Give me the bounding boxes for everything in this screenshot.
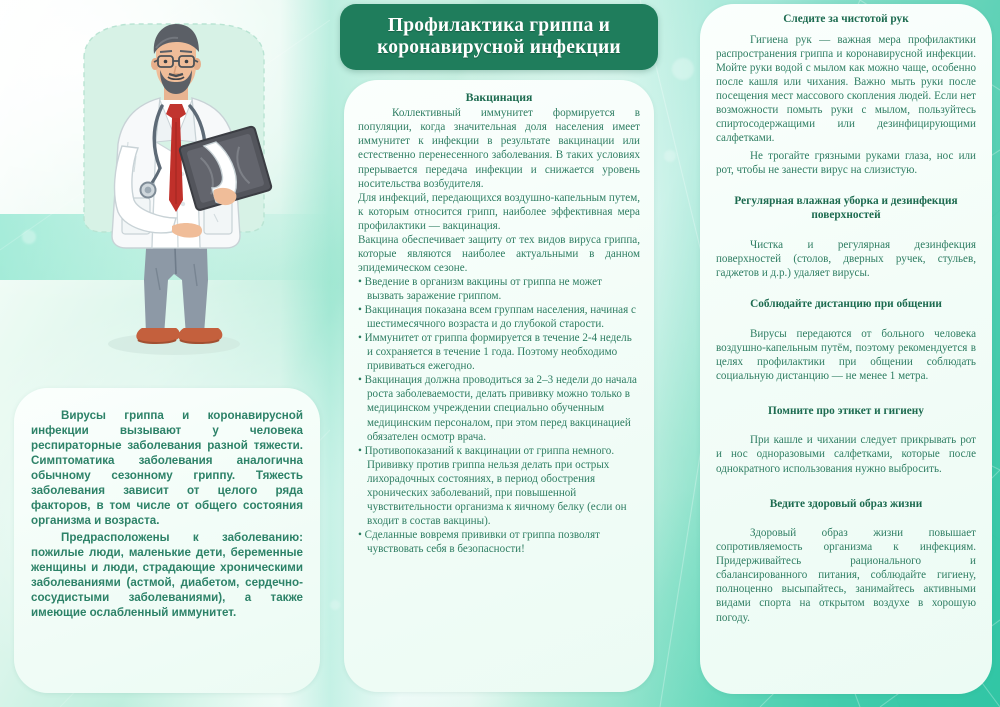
section-paragraph: Чистка и регулярная дезинфекция поверхно… bbox=[716, 238, 976, 280]
doctor-with-xray-icon bbox=[56, 22, 292, 362]
heading-spacer bbox=[716, 517, 976, 526]
list-item: Противопоказаний к вакцинации от гриппа … bbox=[358, 444, 640, 528]
heading-spacer bbox=[716, 424, 976, 433]
section-heading: Ведите здоровый образ жизни bbox=[716, 498, 976, 512]
vaccination-heading: Вакцинация bbox=[358, 90, 640, 104]
list-item: Вакцинация должна проводиться за 2–3 нед… bbox=[358, 373, 640, 443]
vaccination-paragraph-2: Для инфекций, передающихся воздушно-капе… bbox=[358, 191, 640, 233]
section-healthy-lifestyle: Ведите здоровый образ жизни Здоровый обр… bbox=[716, 498, 976, 625]
list-item: Иммунитет от гриппа формируется в течени… bbox=[358, 331, 640, 373]
list-item: Вакцинация показана всем группам населен… bbox=[358, 303, 640, 331]
title-line-1: Профилактика гриппа и bbox=[377, 15, 621, 37]
section-spacer bbox=[716, 392, 976, 405]
list-item: Сделанные вовремя прививки от гриппа поз… bbox=[358, 528, 640, 556]
left-info-card: Вирусы гриппа и коронавирусной инфекции … bbox=[14, 388, 320, 693]
section-hand-hygiene: Следите за чистотой рук Гигиена рук — ва… bbox=[716, 13, 976, 177]
page-title: Профилактика гриппа и коронавирусной инф… bbox=[377, 15, 621, 59]
section-paragraph: При кашле и чихании следует прикрывать р… bbox=[716, 433, 976, 475]
prevention-tips-card: Следите за чистотой рук Гигиена рук — ва… bbox=[700, 4, 992, 694]
list-item: Введение в организм вакцины от гриппа не… bbox=[358, 275, 640, 303]
section-spacer bbox=[716, 186, 976, 195]
heading-spacer bbox=[716, 229, 976, 238]
brochure-page: Вирусы гриппа и коронавирусной инфекции … bbox=[0, 0, 1000, 707]
brochure-title-banner: Профилактика гриппа и коронавирусной инф… bbox=[340, 4, 658, 70]
section-heading: Следите за чистотой рук bbox=[716, 13, 976, 27]
section-heading: Соблюдайте дистанцию при общении bbox=[716, 298, 976, 312]
heading-spacer bbox=[716, 318, 976, 327]
vaccination-paragraph-3: Вакцина обеспечивает защиту от тех видов… bbox=[358, 233, 640, 275]
vaccination-bullet-list: Введение в организм вакцины от гриппа не… bbox=[358, 275, 640, 557]
section-heading: Регулярная влажная уборка и дезинфекция … bbox=[716, 195, 976, 223]
section-surface-disinfection: Регулярная влажная уборка и дезинфекция … bbox=[716, 195, 976, 280]
vaccination-card: Вакцинация Коллективный иммунитет формир… bbox=[344, 80, 654, 692]
section-social-distance: Соблюдайте дистанцию при общении Вирусы … bbox=[716, 298, 976, 383]
doctor-illustration bbox=[56, 22, 292, 362]
section-spacer bbox=[716, 485, 976, 498]
section-etiquette: Помните про этикет и гигиену При кашле и… bbox=[716, 405, 976, 476]
section-spacer bbox=[716, 289, 976, 298]
title-line-2: коронавирусной инфекции bbox=[377, 37, 621, 59]
left-paragraph-1: Вирусы гриппа и коронавирусной инфекции … bbox=[31, 408, 303, 529]
vaccination-paragraph-1: Коллективный иммунитет формируется в поп… bbox=[358, 106, 640, 190]
section-paragraph: Здоровый образ жизни повышает сопротивля… bbox=[716, 526, 976, 624]
section-paragraph: Гигиена рук — важная мера профилактики р… bbox=[716, 33, 976, 145]
section-heading: Помните про этикет и гигиену bbox=[716, 405, 976, 419]
section-paragraph: Вирусы передаются от больного человека в… bbox=[716, 327, 976, 383]
section-paragraph: Не трогайте грязными руками глаза, нос и… bbox=[716, 149, 976, 177]
left-paragraph-2: Предрасположены к заболеванию: пожилые л… bbox=[31, 530, 303, 620]
